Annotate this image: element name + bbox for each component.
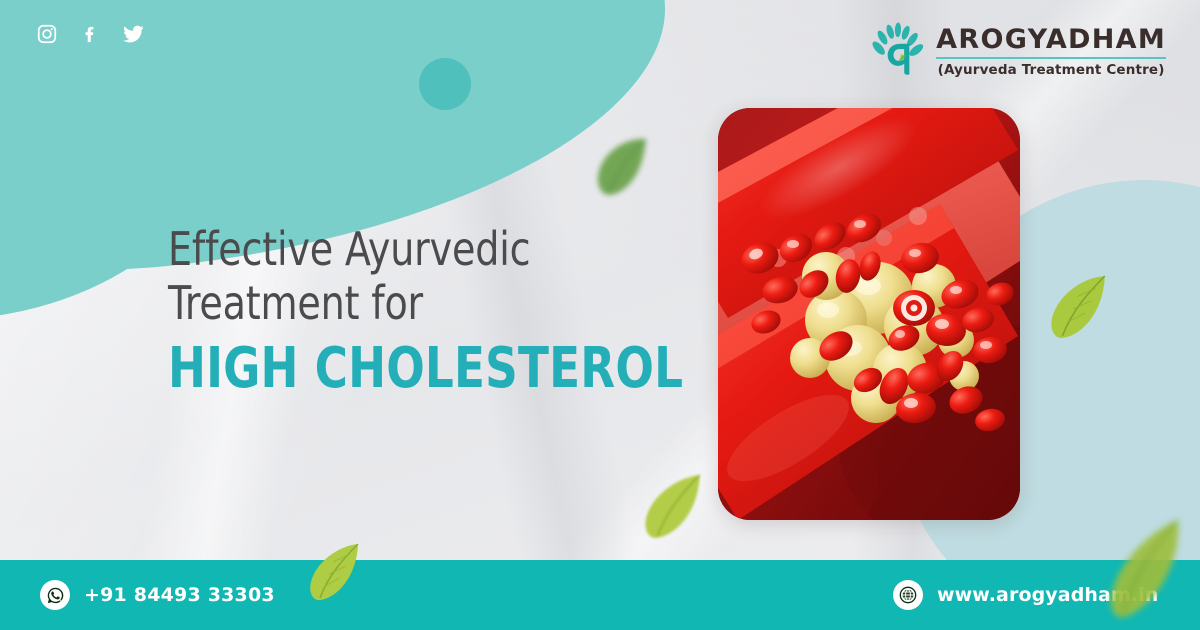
globe-icon [893,580,923,610]
headline-line-2: Treatment for [168,276,695,330]
leaf-top-icon [592,133,654,199]
footer-phone-text: +91 84493 33303 [84,584,275,606]
promo-banner: AROGYADHAM (Ayurveda Treatment Centre) E… [0,0,1200,630]
brand-tagline: (Ayurveda Treatment Centre) [936,62,1166,78]
teal-circle-dot [419,58,471,110]
footer-phone[interactable]: +91 84493 33303 [40,580,275,610]
whatsapp-icon [40,580,70,610]
artery-cholesterol-illustration [718,108,1020,520]
headline-line-1: Effective Ayurvedic [168,222,695,276]
logo-divider [936,57,1166,59]
brand-logo-text: AROGYADHAM (Ayurveda Treatment Centre) [936,26,1166,78]
facebook-icon[interactable] [79,23,101,50]
headline-emphasis: HIGH CHOLESTEROL [168,336,683,402]
brand-name: AROGYADHAM [936,26,1166,54]
ayurveda-leaf-a-icon [870,22,924,82]
leaf-bottom-right-icon [1104,516,1188,620]
headline-block: Effective Ayurvedic Treatment for HIGH C… [168,222,740,402]
leaf-bottom-left-icon [306,540,364,602]
twitter-icon[interactable] [122,22,145,50]
hero-image-card [718,108,1020,520]
social-links [36,22,145,50]
brand-logo[interactable]: AROGYADHAM (Ayurveda Treatment Centre) [870,22,1166,82]
leaf-right-icon [1046,272,1112,342]
instagram-icon[interactable] [36,23,58,50]
leaf-bottom-mid-icon [640,470,708,544]
contact-footer: +91 84493 33303 www.arogyadham.in [0,560,1200,630]
